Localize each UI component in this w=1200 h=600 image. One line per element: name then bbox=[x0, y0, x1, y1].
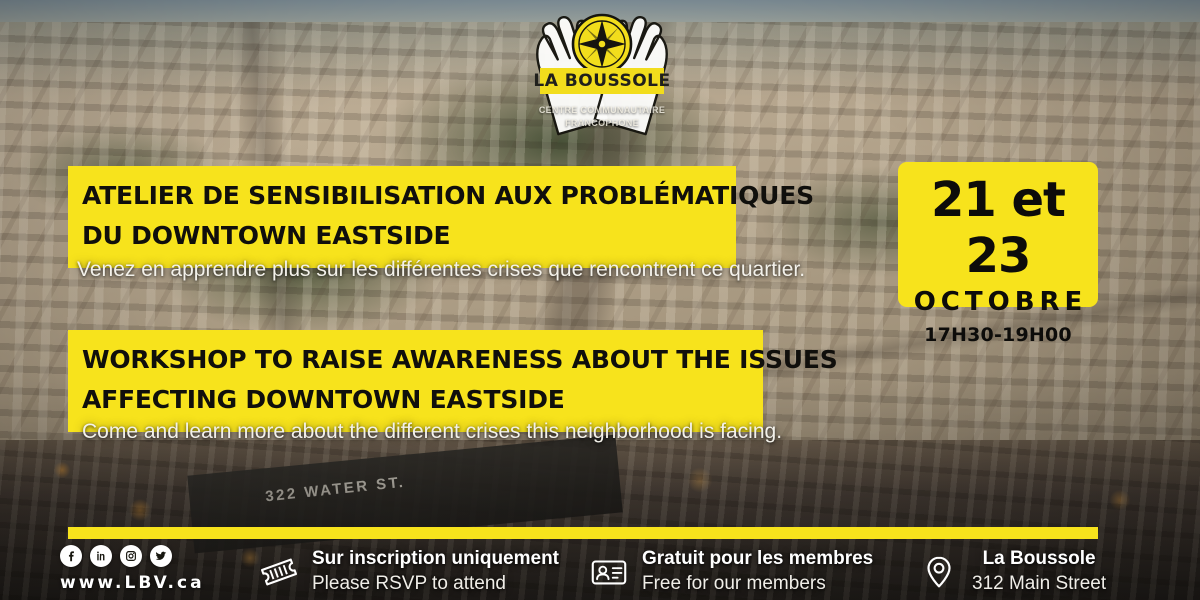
price-line-fr: Gratuit pour les membres bbox=[642, 547, 873, 571]
subtitle-french: Venez en apprendre plus sur les différen… bbox=[77, 256, 805, 284]
logo-subtitle: CENTRE COMMUNAUTAIRE FRANCOPHONE bbox=[527, 104, 677, 130]
footer-location: La Boussole 312 Main Street bbox=[918, 547, 1106, 596]
website-url[interactable]: www.LBV.ca bbox=[60, 573, 205, 593]
footer-rsvp: Sur inscription uniquement Please RSVP t… bbox=[258, 547, 559, 596]
headline-en-line2: AFFECTING DOWNTOWN EASTSIDE bbox=[82, 380, 749, 420]
headline-fr-line2: DU DOWNTOWN EASTSIDE bbox=[82, 216, 722, 256]
footer: www.LBV.ca Sur inscription uniquement Pl… bbox=[0, 543, 1200, 600]
twitter-icon[interactable] bbox=[150, 545, 172, 567]
logo: LA BOUSSOLE CENTRE COMMUNAUTAIRE FRANCOP… bbox=[527, 0, 677, 145]
price-line-en: Free for our members bbox=[642, 571, 873, 596]
logo-banner-text: LA BOUSSOLE bbox=[533, 71, 670, 91]
subtitle-english: Come and learn more about the different … bbox=[82, 418, 782, 446]
headline-block-french: ATELIER DE SENSIBILISATION AUX PROBLÉMAT… bbox=[68, 166, 736, 268]
event-poster: 322 WATER ST. LA BOUSSOLE CENTRE COMMUNA… bbox=[0, 0, 1200, 600]
headline-block-english: WORKSHOP TO RAISE AWARENESS ABOUT THE IS… bbox=[68, 330, 763, 432]
instagram-icon[interactable] bbox=[120, 545, 142, 567]
logo-subtitle-line1: CENTRE COMMUNAUTAIRE bbox=[527, 104, 677, 117]
date-days: 21 et 23 bbox=[898, 172, 1098, 284]
date-month: OCTOBRE bbox=[898, 284, 1098, 320]
logo-subtitle-line2: FRANCOPHONE bbox=[527, 117, 677, 130]
linkedin-icon[interactable] bbox=[90, 545, 112, 567]
headline-fr-line1: ATELIER DE SENSIBILISATION AUX PROBLÉMAT… bbox=[82, 176, 722, 216]
footer-social: www.LBV.ca bbox=[60, 545, 205, 593]
venue-address: 312 Main Street bbox=[972, 571, 1106, 596]
yellow-divider bbox=[68, 527, 1098, 539]
venue-name: La Boussole bbox=[983, 547, 1096, 571]
date-time: 17H30-19H00 bbox=[898, 320, 1098, 350]
date-badge: 21 et 23 OCTOBRE 17H30-19H00 bbox=[898, 162, 1098, 307]
membership-card-icon bbox=[588, 551, 630, 593]
map-pin-icon bbox=[918, 551, 960, 593]
ticket-icon bbox=[258, 551, 300, 593]
social-icon-row bbox=[60, 545, 172, 567]
logo-banner: LA BOUSSOLE bbox=[540, 68, 664, 94]
footer-price: Gratuit pour les membres Free for our me… bbox=[588, 547, 873, 596]
rsvp-line-en: Please RSVP to attend bbox=[312, 571, 559, 596]
rsvp-line-fr: Sur inscription uniquement bbox=[312, 547, 559, 571]
headline-en-line1: WORKSHOP TO RAISE AWARENESS ABOUT THE IS… bbox=[82, 340, 749, 380]
facebook-icon[interactable] bbox=[60, 545, 82, 567]
